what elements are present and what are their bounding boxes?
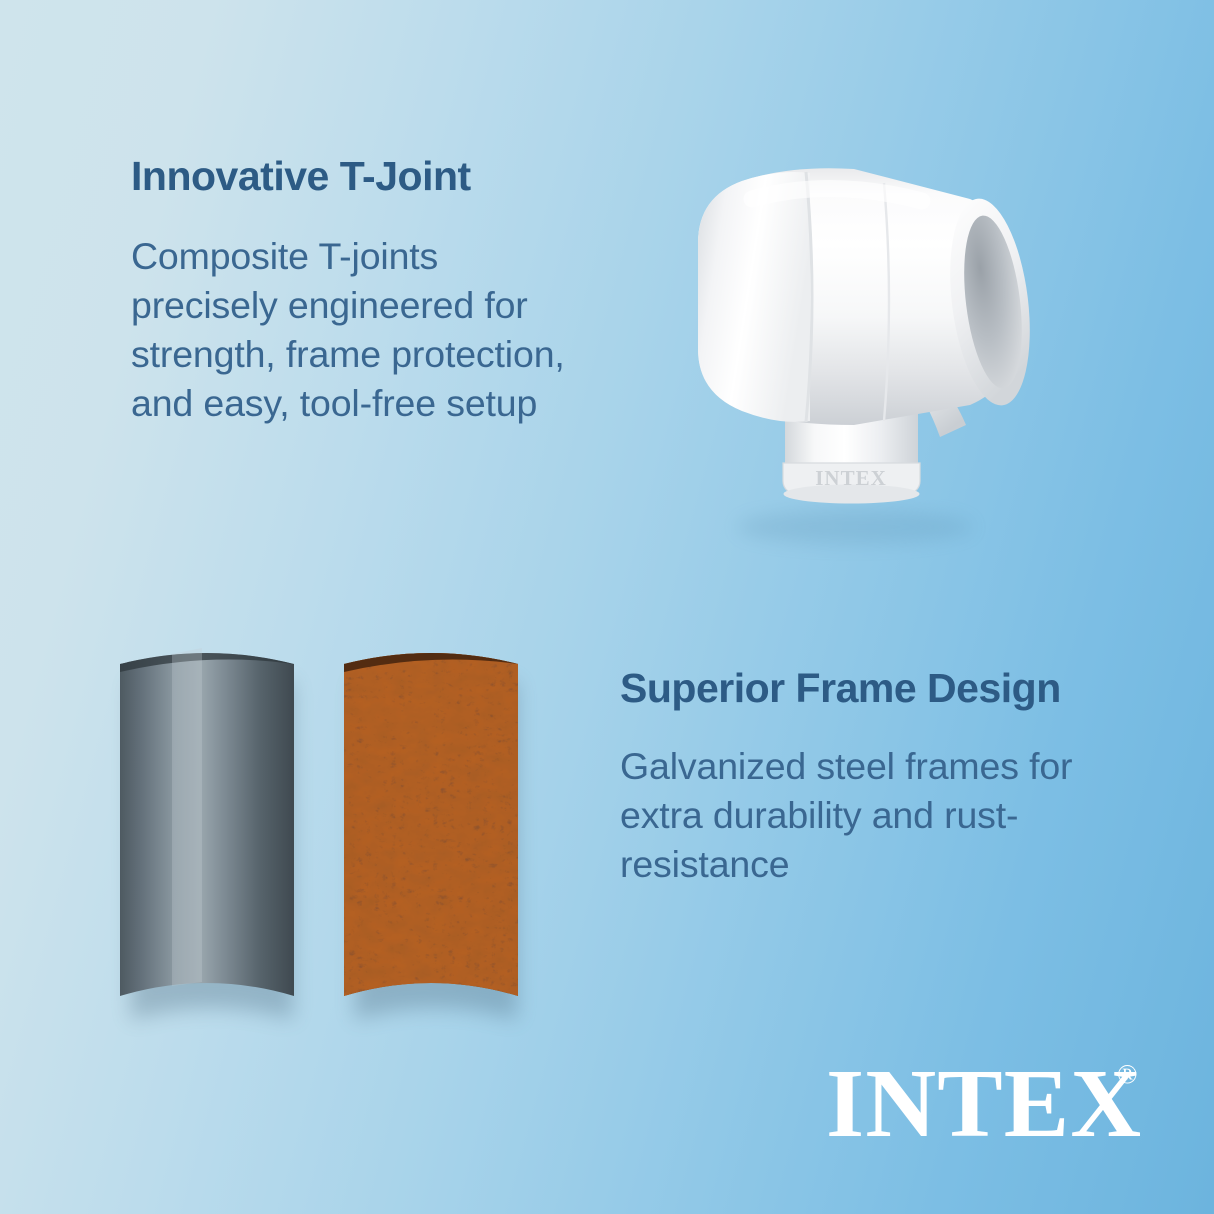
galvanized-pipe-image (116, 638, 298, 1030)
feature-block-t-joint: Innovative T-Joint Composite T-joints pr… (131, 155, 571, 429)
feature-heading-t-joint: Innovative T-Joint (131, 155, 571, 198)
rusted-pipe-texture (340, 638, 522, 1030)
t-joint-left-cap (698, 172, 810, 422)
feature-heading-frame-design: Superior Frame Design (620, 667, 1140, 710)
pipe-comparison-images (108, 638, 538, 1053)
galvanized-pipe-highlight (172, 648, 202, 986)
t-joint-illustration: INTEX (640, 125, 1090, 545)
infographic-canvas: Innovative T-Joint Composite T-joints pr… (0, 0, 1214, 1214)
t-joint-product-image: INTEX (640, 125, 1090, 545)
galvanized-pipe-body (120, 653, 294, 996)
intex-wordmark: INTEX (826, 1055, 1142, 1153)
feature-body-t-joint: Composite T-joints precisely engineered … (131, 232, 571, 429)
feature-body-frame-design: Galvanized steel frames for extra durabi… (620, 742, 1140, 889)
intex-logo: INTEX ® (826, 1055, 1166, 1163)
galvanized-pipe-illustration (116, 638, 298, 1030)
feature-block-frame-design: Superior Frame Design Galvanized steel f… (620, 667, 1140, 889)
rusted-pipe-illustration (340, 638, 522, 1030)
t-joint-emboss-text: INTEX (815, 466, 887, 490)
registered-trademark-icon: ® (1117, 1061, 1138, 1088)
t-joint-shadow (737, 510, 973, 544)
rusted-pipe-image (340, 638, 522, 1030)
